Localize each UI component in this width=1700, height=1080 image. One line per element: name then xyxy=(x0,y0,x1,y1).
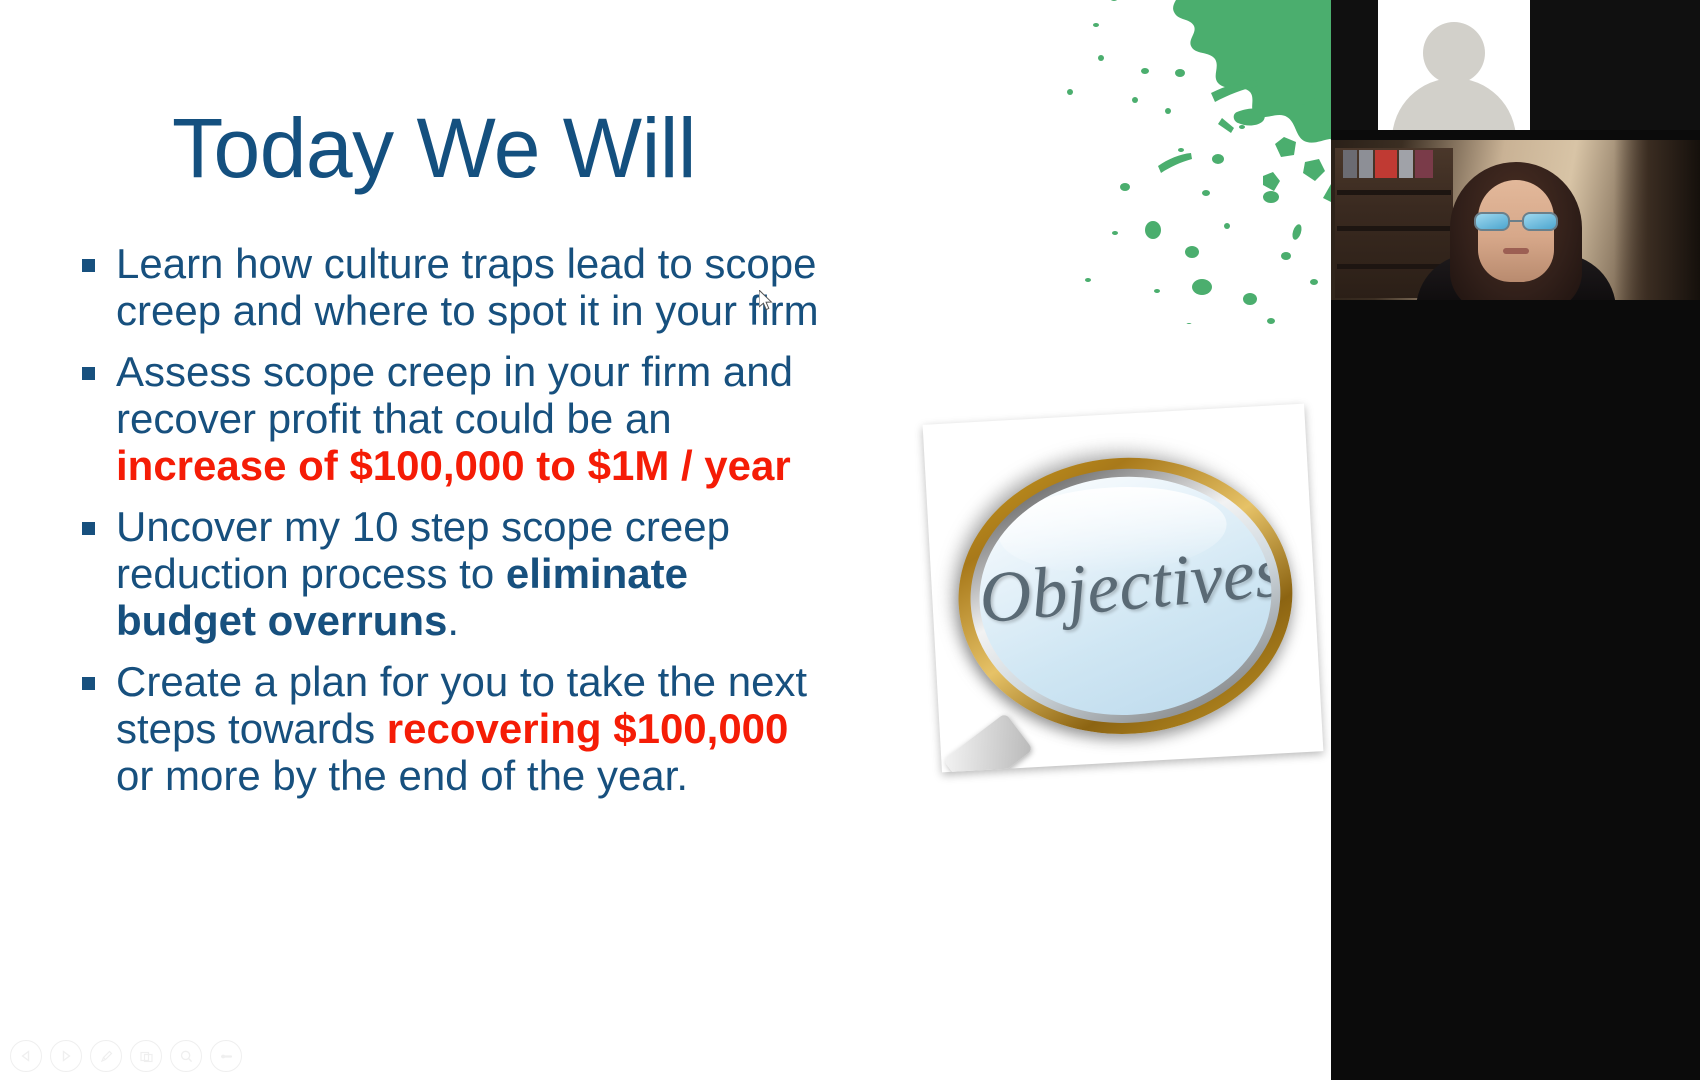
presentation-slide: Today We Will Learn how culture traps le… xyxy=(0,0,1331,1080)
avatar-placeholder xyxy=(1378,0,1530,130)
magnifier-handle-icon xyxy=(943,713,1033,772)
bullet-text-run: creep and where to spot it in your firm xyxy=(116,287,819,334)
bullet-line: Assess scope creep in your firm and xyxy=(116,348,956,395)
slide-bullet-list: Learn how culture traps lead to scopecre… xyxy=(76,240,956,813)
zoom-magnifier-button[interactable] xyxy=(170,1040,202,1072)
bullet-text-run: steps towards xyxy=(116,705,387,752)
screen-capture-button[interactable] xyxy=(130,1040,162,1072)
bullet-text-run: recovering $100,000 xyxy=(387,705,789,752)
triangle-right-icon xyxy=(59,1049,73,1063)
magnifier-icon xyxy=(179,1049,194,1064)
bullet-line: increase of $100,000 to $1M / year xyxy=(116,442,956,489)
bullet-text-run: increase of $100,000 to $1M / year xyxy=(116,442,791,489)
bullet-marker-icon xyxy=(82,522,95,535)
bullet-marker-icon xyxy=(82,367,95,380)
bullet-text-run: . xyxy=(447,597,459,644)
erase-annotations-button[interactable] xyxy=(210,1040,242,1072)
slide-toolbar xyxy=(10,1040,242,1072)
bullet-marker-icon xyxy=(82,259,95,272)
bullet-line: reduction process to eliminate xyxy=(116,550,956,597)
avatar-head-icon xyxy=(1423,22,1485,84)
presenter-mouth xyxy=(1503,248,1529,254)
green-paint-splatter-icon xyxy=(975,0,1331,324)
photo-frame: Objectives xyxy=(923,404,1324,773)
bullet-line: recover profit that could be an xyxy=(116,395,956,442)
bullet-text-run: recover profit that could be an xyxy=(116,395,672,442)
next-slide-button[interactable] xyxy=(50,1040,82,1072)
presenter-video-tile[interactable] xyxy=(1331,140,1700,300)
slide-bullet: Uncover my 10 step scope creepreduction … xyxy=(76,503,956,644)
slide-bullet: Learn how culture traps lead to scopecre… xyxy=(76,240,956,334)
participant-video-rail xyxy=(1331,0,1700,1080)
bullet-text-run: Assess scope creep in your firm and xyxy=(116,348,793,395)
bullet-line: budget overruns. xyxy=(116,597,956,644)
avatar-body-icon xyxy=(1392,78,1516,130)
slide-title: Today We Will xyxy=(172,104,696,192)
magnifier-rim-inner: Objectives xyxy=(964,460,1288,731)
bullet-text-run: or more by the end of the year. xyxy=(116,752,688,799)
bullet-text-run: Learn how culture traps lead to scope xyxy=(116,240,816,287)
bullet-line: or more by the end of the year. xyxy=(116,752,956,799)
bullet-line: creep and where to spot it in your firm xyxy=(116,287,956,334)
capture-icon xyxy=(139,1049,154,1064)
bullet-text-run: reduction process to xyxy=(116,550,506,597)
objectives-magnifier-image: Objectives xyxy=(923,404,1324,773)
bullet-line: steps towards recovering $100,000 xyxy=(116,705,956,752)
magnifier-lens: Objectives xyxy=(973,469,1278,723)
eraser-icon xyxy=(219,1049,234,1064)
pen-icon xyxy=(99,1049,114,1064)
bullet-line: Uncover my 10 step scope creep xyxy=(116,503,956,550)
triangle-left-icon xyxy=(19,1049,33,1063)
bullet-text-run: budget overruns xyxy=(116,597,447,644)
slide-bullet: Create a plan for you to take the nextst… xyxy=(76,658,956,799)
participant-tile-placeholder[interactable] xyxy=(1331,0,1700,130)
bullet-text-run: eliminate xyxy=(506,550,688,597)
background-right-shadow xyxy=(1614,140,1700,300)
bullet-marker-icon xyxy=(82,677,95,690)
annotate-pen-button[interactable] xyxy=(90,1040,122,1072)
bullet-line: Create a plan for you to take the next xyxy=(116,658,956,705)
bullet-text-run: Create a plan for you to take the next xyxy=(116,658,807,705)
previous-slide-button[interactable] xyxy=(10,1040,42,1072)
presenter-webcam-feed xyxy=(1331,140,1700,300)
slide-bullet: Assess scope creep in your firm andrecov… xyxy=(76,348,956,489)
presenter-glasses-icon xyxy=(1474,212,1558,232)
meeting-screen-share: Today We Will Learn how culture traps le… xyxy=(0,0,1700,1080)
bullet-text-run: Uncover my 10 step scope creep xyxy=(116,503,730,550)
bullet-line: Learn how culture traps lead to scope xyxy=(116,240,956,287)
